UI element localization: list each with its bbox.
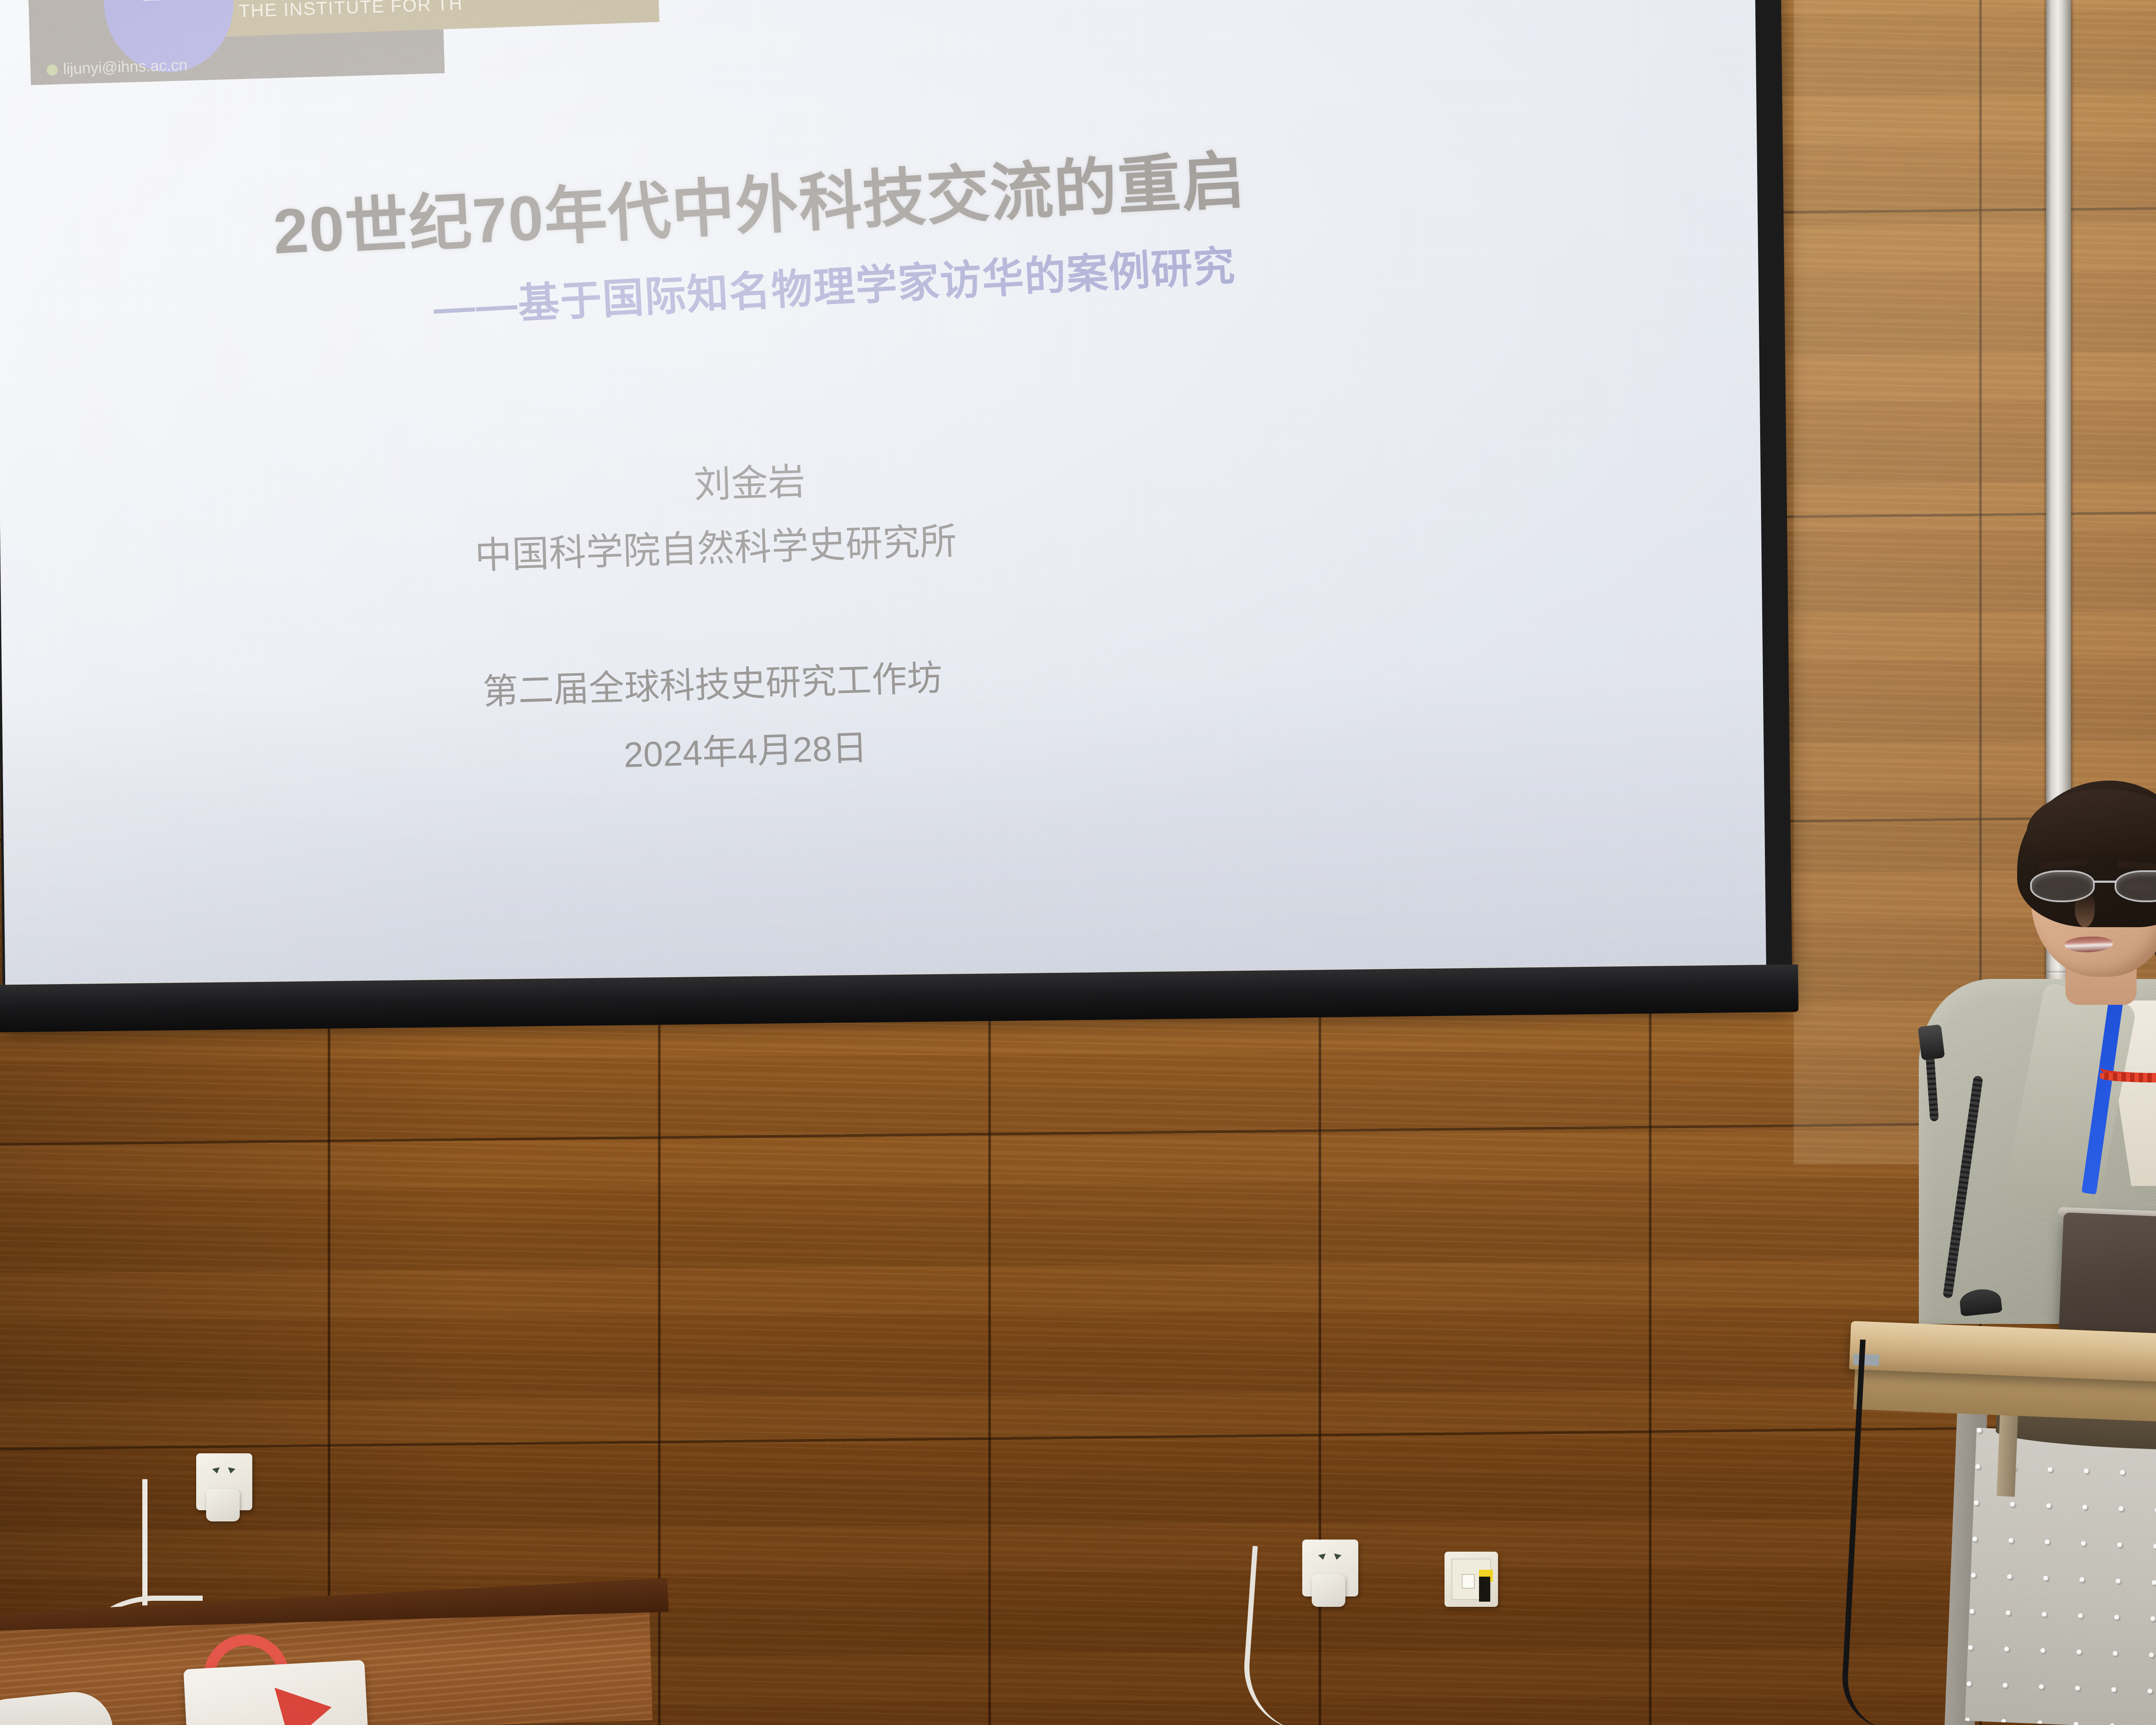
podium-front-panel <box>1965 1428 2156 1725</box>
outlet-slot-icon <box>1333 1553 1341 1560</box>
coral-necklace <box>2100 1052 2156 1082</box>
presentation-photo-scene: THE INSTITUTE FOR TH L lijunyi@ihns.ac.c… <box>0 0 2156 1725</box>
rj45-jack-icon <box>1462 1574 1475 1589</box>
projection-screen-surface: THE INSTITUTE FOR TH L lijunyi@ihns.ac.c… <box>0 0 1766 990</box>
outlet-slot-icon <box>212 1467 221 1474</box>
slide-content: 20世纪70年代中外科技交流的重启 ——基于国际知名物理学家访华的案例研究 刘金… <box>0 0 1766 990</box>
black-label <box>1479 1577 1490 1602</box>
data-port-inner <box>1451 1559 1491 1600</box>
slide-affiliation: 中国科学院自然科学史研究所 <box>474 511 957 579</box>
laptop <box>2059 1212 2156 1345</box>
outlet-slot-icon <box>1318 1553 1327 1560</box>
slide-date: 2024年4月28日 <box>623 719 868 778</box>
glasses-bridge <box>2094 881 2116 883</box>
slide-event-name: 第二届全球科技史研究工作坊 <box>482 649 943 714</box>
outlet-slot-icon <box>227 1467 235 1474</box>
nose <box>2075 892 2095 927</box>
podium-perforation-pattern <box>1965 1428 2156 1725</box>
lens-right <box>2115 870 2156 902</box>
network-data-port[interactable] <box>1445 1552 1498 1607</box>
hair-fringe <box>2027 789 2156 854</box>
microphone-capsule-icon <box>1918 1024 1945 1060</box>
power-plug-left <box>206 1489 240 1521</box>
power-plug-center <box>1312 1574 1345 1607</box>
slide-author: 刘金岩 <box>693 451 806 508</box>
projection-screen-frame: THE INSTITUTE FOR TH L lijunyi@ihns.ac.c… <box>0 0 1792 1024</box>
